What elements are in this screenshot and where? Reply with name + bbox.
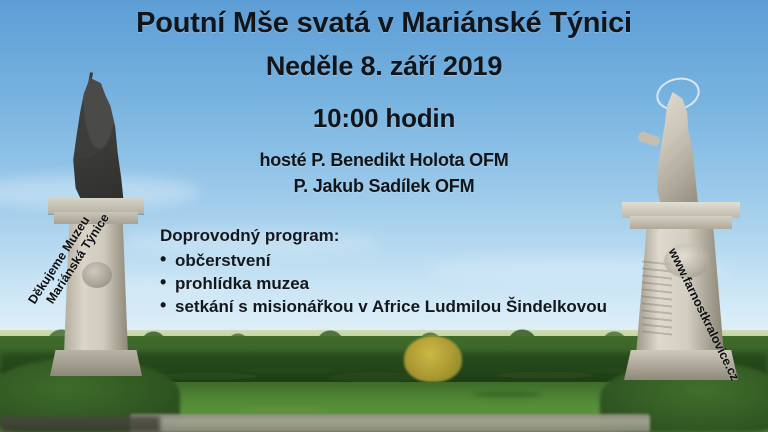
guest-line-2: P. Jakub Sadílek OFM [0, 175, 768, 198]
program-heading: Doprovodný program: [160, 224, 720, 247]
program-item: setkání s misionářkou v Africe Ludmilou … [160, 295, 720, 318]
poster-title: Poutní Mše svatá v Mariánské Týnici [0, 6, 768, 40]
poster-time: 10:00 hodin [0, 103, 768, 134]
poster: Poutní Mše svatá v Mariánské Týnici Nedě… [0, 0, 768, 432]
program-item: prohlídka muzea [160, 272, 720, 295]
program-block: Doprovodný program: občerstvení prohlídk… [160, 224, 720, 318]
guest-line-1: hosté P. Benedikt Holota OFM [0, 149, 768, 172]
poster-date: Neděle 8. září 2019 [0, 50, 768, 82]
program-item: občerstvení [160, 249, 720, 272]
poster-text-layer: Poutní Mše svatá v Mariánské Týnici Nedě… [0, 0, 768, 432]
program-list: občerstvení prohlídka muzea setkání s mi… [160, 249, 720, 318]
museum-credit: Děkujeme Muzeu Mariánská Týnice [25, 203, 112, 315]
